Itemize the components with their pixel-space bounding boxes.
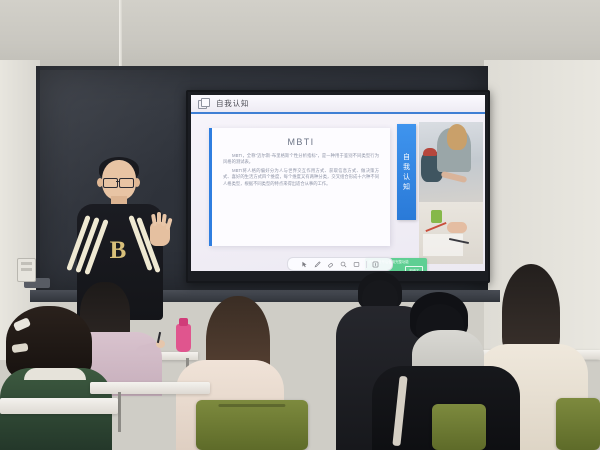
chair: [556, 398, 600, 450]
photo-blonde-hair: [447, 124, 467, 150]
photo-green-cup: [431, 210, 442, 223]
whiteboard-header: 自我认知: [191, 95, 485, 114]
slide-canvas[interactable]: MBTI MBTI，全称“迈尔斯-布里格斯个性分析指标”，是一种用于鉴别不同类型…: [191, 114, 485, 271]
student-front-left: [0, 306, 112, 450]
chair: [196, 400, 308, 450]
pen-icon[interactable]: [314, 261, 321, 268]
slide-title: MBTI: [212, 137, 390, 147]
photo-hand: [447, 222, 467, 233]
glasses-lens-left: [103, 178, 118, 188]
toast-dismiss-button[interactable]: 知道了: [405, 266, 423, 271]
whiteboard-screen[interactable]: 自我认知 MBTI MBTI，全称“迈尔斯-布里格斯个性分析指标”，是一种用于鉴…: [191, 95, 485, 271]
slide-paragraph-2: MBTI将人格的偏好分为人与世界交互作用方式、获取信息方式、做决策方式、喜好的生…: [223, 168, 379, 187]
glasses-bridge: [116, 181, 119, 182]
glasses-lens-right: [119, 178, 134, 188]
slide-text-card: MBTI MBTI，全称“迈尔斯-布里格斯个性分析指标”，是一种用于鉴别不同类型…: [209, 128, 390, 246]
panel-switch-2: [21, 268, 32, 271]
presenter-ear-right: [134, 178, 140, 187]
shirt-collar: [24, 368, 86, 380]
chair-backrest-slot: [218, 404, 285, 407]
desk: [0, 398, 118, 414]
classroom-presentation-photo: 自我认知 MBTI MBTI，全称“迈尔斯-布里格斯个性分析指标”，是一种用于鉴…: [0, 0, 600, 450]
panel-switch-1: [21, 262, 32, 265]
desk: [90, 382, 210, 394]
eraser-icon[interactable]: [327, 261, 334, 268]
banner-char-2: 我: [403, 163, 410, 172]
desk-leg: [118, 392, 121, 432]
banner-char-4: 知: [403, 183, 410, 192]
more-icon[interactable]: [372, 261, 379, 268]
presenter-finger: [165, 218, 172, 231]
photo-red-cap: [423, 148, 437, 156]
photo-arm: [441, 171, 468, 183]
chair: [432, 404, 486, 450]
interactive-whiteboard-bezel: 自我认知 MBTI MBTI，全称“迈尔斯-布里格斯个性分析指标”，是一种用于鉴…: [186, 90, 490, 283]
cursor-icon[interactable]: [301, 261, 308, 268]
header-title: 自我认知: [216, 98, 249, 109]
photo-paper-sheet: [423, 234, 463, 256]
slide-vertical-banner: 自 我 认 知: [397, 124, 416, 220]
presenter-finger: [157, 212, 161, 224]
banner-char-1: 自: [403, 153, 410, 162]
pink-water-bottle: [176, 324, 191, 352]
jacket-logo-letter: B: [108, 238, 128, 264]
bottle-cap: [179, 318, 188, 326]
wall-control-panel[interactable]: [17, 258, 36, 282]
slide-paragraph-1: MBTI，全称“迈尔斯-布里格斯个性分析指标”，是一种用于鉴别不同类型行为风格的…: [223, 153, 379, 166]
slide-photo: [419, 122, 483, 264]
whiteboard-toolbar[interactable]: [287, 257, 393, 271]
slide-body: MBTI，全称“迈尔斯-布里格斯个性分析指标”，是一种用于鉴别不同类型行为风格的…: [212, 153, 390, 187]
toolbar-divider: [366, 261, 367, 268]
shape-icon[interactable]: [353, 261, 360, 268]
window-restore-icon[interactable]: [198, 98, 209, 109]
magnifier-icon[interactable]: [340, 261, 347, 268]
banner-char-3: 认: [403, 173, 410, 182]
